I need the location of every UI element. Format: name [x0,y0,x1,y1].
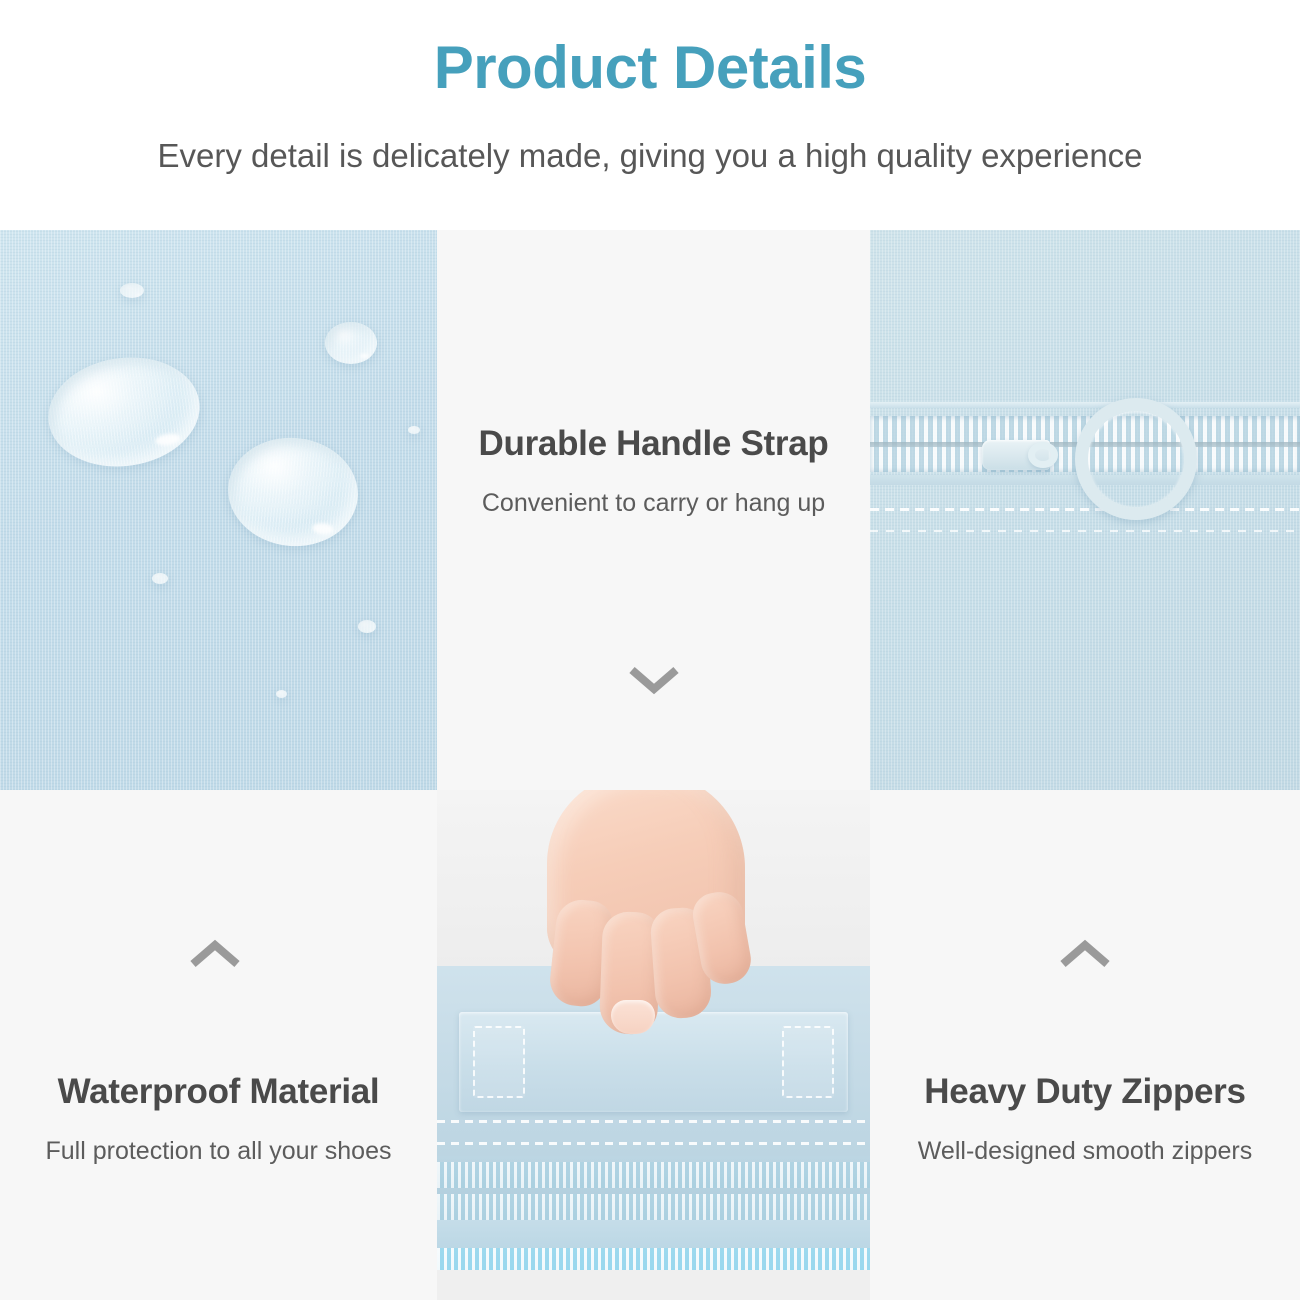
heavy-duty-zippers-caption: Heavy Duty Zippers Well-designed smooth … [870,790,1300,1300]
handle-strap-scene [437,790,870,1300]
product-details-infographic: Product Details Every detail is delicate… [0,0,1300,1300]
zipper-tape-top [870,402,1300,408]
zipper-band [437,1248,870,1270]
water-droplet [276,690,287,698]
fabric-texture [0,230,437,790]
zipper-ring-pull [1075,398,1197,520]
strap-stitch-tack [473,1026,525,1098]
seam-line [437,1120,870,1123]
waterproof-material-photo [0,230,437,790]
chevron-down-icon [626,662,682,696]
caption-text-group: Waterproof Material Full protection to a… [0,1072,437,1166]
zipper-assembly [870,230,1300,790]
strap-stitch-tack [782,1026,834,1098]
water-droplet [152,573,168,584]
chevron-up-icon [1057,938,1113,972]
page-title: Product Details [0,36,1300,99]
zipper-band [437,1162,870,1188]
feature-grid: Durable Handle Strap Convenient to carry… [0,230,1300,1300]
feature-title-waterproof-material: Waterproof Material [0,1072,437,1112]
header: Product Details Every detail is delicate… [0,0,1300,230]
heavy-duty-zippers-photo [870,230,1300,790]
chevron-up-icon [187,938,243,972]
water-droplet [120,283,144,298]
caption-text-group: Durable Handle Strap Convenient to carry… [437,424,870,518]
feature-subtitle-heavy-duty-zippers: Well-designed smooth zippers [870,1136,1300,1166]
zipper-band [437,1194,870,1220]
durable-handle-strap-caption: Durable Handle Strap Convenient to carry… [437,230,870,790]
zipper-link [1028,442,1058,468]
feature-subtitle-durable-handle-strap: Convenient to carry or hang up [437,488,870,518]
waterproof-material-caption: Waterproof Material Full protection to a… [0,790,437,1300]
page-subtitle: Every detail is delicately made, giving … [0,136,1300,176]
feature-title-durable-handle-strap: Durable Handle Strap [437,424,870,464]
water-droplet [325,322,377,364]
scene-floor [437,1270,870,1300]
water-droplet [408,426,420,434]
durable-handle-strap-photo [437,790,870,1300]
stitching-line [870,508,1300,511]
feature-title-heavy-duty-zippers: Heavy Duty Zippers [870,1072,1300,1112]
caption-text-group: Heavy Duty Zippers Well-designed smooth … [870,1072,1300,1166]
seam-line [437,1142,870,1145]
fingernail [611,1000,655,1034]
hand-graphic [525,790,763,1072]
water-droplet [358,620,376,633]
feature-subtitle-waterproof-material: Full protection to all your shoes [0,1136,437,1166]
stitching-line [870,530,1300,532]
